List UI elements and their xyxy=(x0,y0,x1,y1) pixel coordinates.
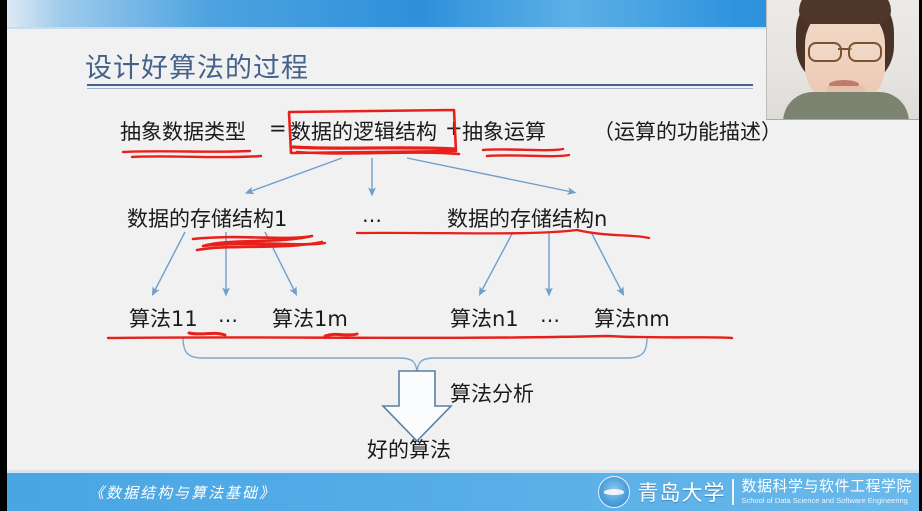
red-tick-alg11 xyxy=(189,333,225,335)
node-algorithm-nm: 算法nm xyxy=(594,303,670,333)
plus-sign: + xyxy=(445,116,463,140)
red-underline-operation xyxy=(483,149,563,150)
node-good-algorithm: 好的算法 xyxy=(367,434,451,464)
node-algorithm-n1: 算法n1 xyxy=(450,303,519,333)
node-algorithm-11: 算法11 xyxy=(129,303,198,333)
left-bezel xyxy=(0,0,7,511)
arrow-storagen-to-algn1 xyxy=(481,232,513,292)
university-name: 青岛大学 xyxy=(637,477,725,507)
block-arrow-down xyxy=(383,371,451,441)
red-box-bottom-emphasis-2 xyxy=(297,152,459,154)
footer-brand: 青岛大学 数据科学与软件工程学院 School of Data Science … xyxy=(598,476,912,508)
glasses-lens-right xyxy=(848,42,882,62)
node-abstract-operation: 抽象运算 xyxy=(462,116,546,146)
node-algorithm-1m: 算法1m xyxy=(272,303,348,333)
school-name-cn: 数据科学与软件工程学院 xyxy=(741,479,912,495)
red-underline-algorithms xyxy=(108,336,732,338)
arrow-storagen-to-algnm xyxy=(591,232,622,292)
node-storage-ellipsis: … xyxy=(362,203,384,227)
red-underline-adt-2 xyxy=(132,156,261,157)
presenter-shoulders xyxy=(783,92,909,120)
node-algorithm-ellipsis-2: … xyxy=(540,303,562,327)
node-algorithm-analysis-label: 算法分析 xyxy=(450,378,534,408)
node-logical-structure: 数据的逻辑结构 xyxy=(290,116,437,146)
glasses-lens-left xyxy=(808,42,842,62)
node-storage-structure-n: 数据的存储结构n xyxy=(447,203,607,233)
arrow-logical-to-storage1 xyxy=(249,158,342,192)
presenter-webcam-overlay[interactable] xyxy=(766,0,922,120)
presenter-fringe xyxy=(799,0,891,24)
arrow-storage1-to-alg1m xyxy=(265,232,295,292)
red-box-bottom-emphasis xyxy=(293,147,455,149)
slide-footer: 《数据结构与算法基础》 青岛大学 数据科学与软件工程学院 School of D… xyxy=(7,473,922,511)
school-block: 数据科学与软件工程学院 School of Data Science and S… xyxy=(741,479,912,505)
node-operation-note: （运算的功能描述） xyxy=(593,116,782,146)
presenter-glasses-icon xyxy=(808,42,882,59)
node-algorithm-ellipsis-1: … xyxy=(218,303,240,327)
equals-sign: = xyxy=(269,116,287,140)
brand-divider xyxy=(732,479,734,505)
university-logo-icon xyxy=(598,476,630,508)
red-underline-adt xyxy=(123,151,250,152)
screen-root: 设计好算法的过程 抽象数据类型 = 数据的逻辑结构 + 抽象运算 （运算的功能描… xyxy=(0,0,922,511)
node-storage-structure-1: 数据的存储结构1 xyxy=(127,203,287,233)
brace-under-algorithms xyxy=(183,337,647,372)
node-abstract-data-type: 抽象数据类型 xyxy=(120,116,246,146)
red-tick-alg1m xyxy=(325,334,357,336)
page-title: 设计好算法的过程 xyxy=(85,46,309,85)
red-scribble-storage1 xyxy=(193,236,322,250)
title-underline-thick xyxy=(87,84,753,86)
title-underline-thin xyxy=(87,88,753,89)
arrow-logical-to-storagen xyxy=(407,158,572,192)
red-underline-operation-2 xyxy=(487,155,569,156)
red-scribble-storage1-2 xyxy=(207,243,325,245)
school-name-en: School of Data Science and Software Engi… xyxy=(741,497,912,505)
footer-course-title: 《数据结构与算法基础》 xyxy=(89,482,276,503)
arrow-storage1-to-alg11 xyxy=(154,232,185,292)
